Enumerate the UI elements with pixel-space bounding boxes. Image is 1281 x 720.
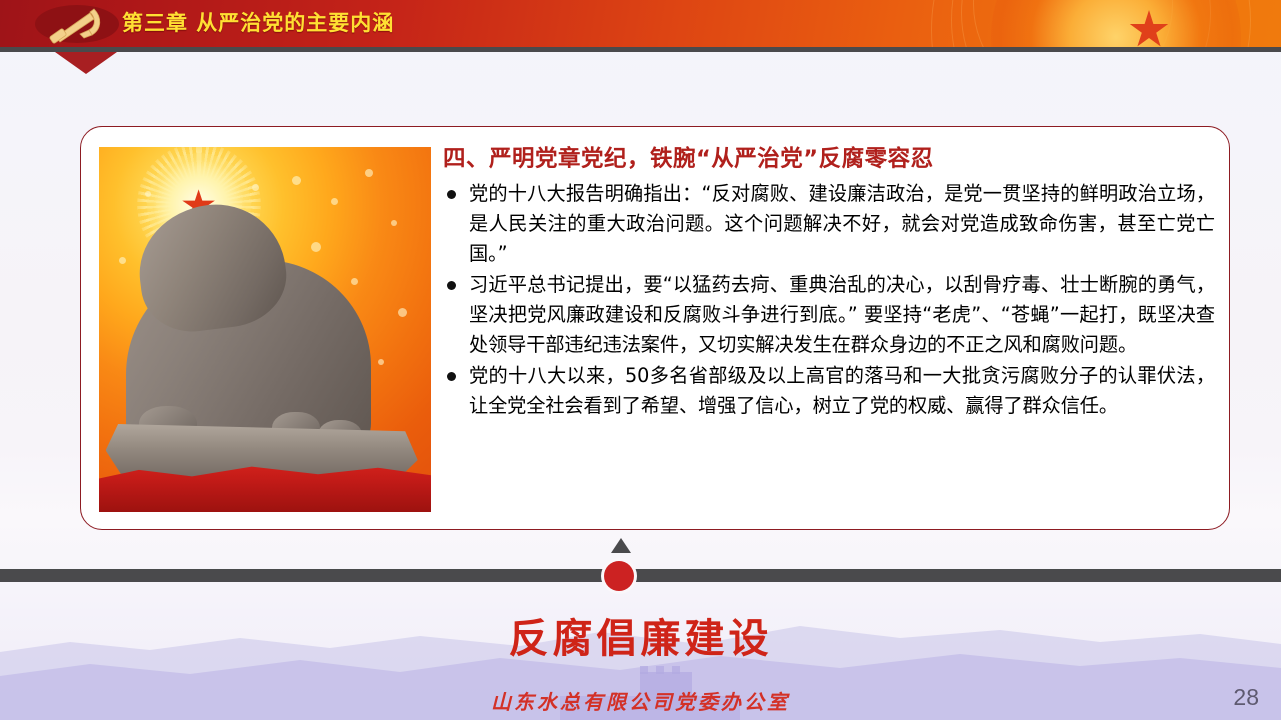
triangle-up-icon	[611, 538, 631, 553]
list-item: 党的十八大以来，50多名省部级及以上高官的落马和一大批贪污腐败分子的认罪伏法，让…	[443, 361, 1215, 421]
bokeh-dot	[378, 359, 384, 365]
footer-signature: 山东水总有限公司党委办公室	[0, 686, 1281, 715]
bottom-banner-title: 反腐倡廉建设	[0, 606, 1281, 664]
bokeh-dot	[365, 169, 373, 177]
card-content: 四、严明党章党纪，铁腕“从严治党”反腐零容忍 党的十八大报告明确指出：“反对腐败…	[443, 141, 1215, 519]
slide-header: 第三章 从严治党的主要内涵	[0, 0, 1281, 47]
bokeh-dot	[252, 184, 259, 191]
list-item: 习近平总书记提出，要“以猛药去疴、重典治乱的决心，以刮骨疗毒、壮士断腕的勇气，坚…	[443, 270, 1215, 360]
bokeh-dot	[351, 278, 358, 285]
header-tab-marker	[55, 52, 117, 74]
header-underbar	[0, 47, 1281, 52]
bullet-list: 党的十八大报告明确指出：“反对腐败、建设廉洁政治，是党一贯坚持的鲜明政治立场，是…	[443, 179, 1215, 421]
section-title: 四、严明党章党纪，铁腕“从严治党”反腐零容忍	[443, 141, 1215, 173]
hammer-and-sickle-icon	[34, 4, 120, 44]
content-card: 四、严明党章党纪，铁腕“从严治党”反腐零容忍 党的十八大报告明确指出：“反对腐败…	[80, 126, 1230, 530]
chapter-title: 第三章 从严治党的主要内涵	[122, 7, 394, 37]
bokeh-dot	[311, 242, 321, 252]
bokeh-dot	[398, 308, 407, 317]
bokeh-dot	[119, 257, 126, 264]
bokeh-dot	[331, 198, 338, 205]
list-item: 党的十八大报告明确指出：“反对腐败、建设廉洁政治，是党一贯坚持的鲜明政治立场，是…	[443, 179, 1215, 269]
bokeh-dot	[391, 220, 397, 226]
page-number: 28	[1233, 684, 1259, 711]
guardian-lion-photo	[99, 147, 431, 512]
bokeh-dot	[292, 176, 301, 185]
header-sunburst-decoration	[991, 0, 1241, 47]
